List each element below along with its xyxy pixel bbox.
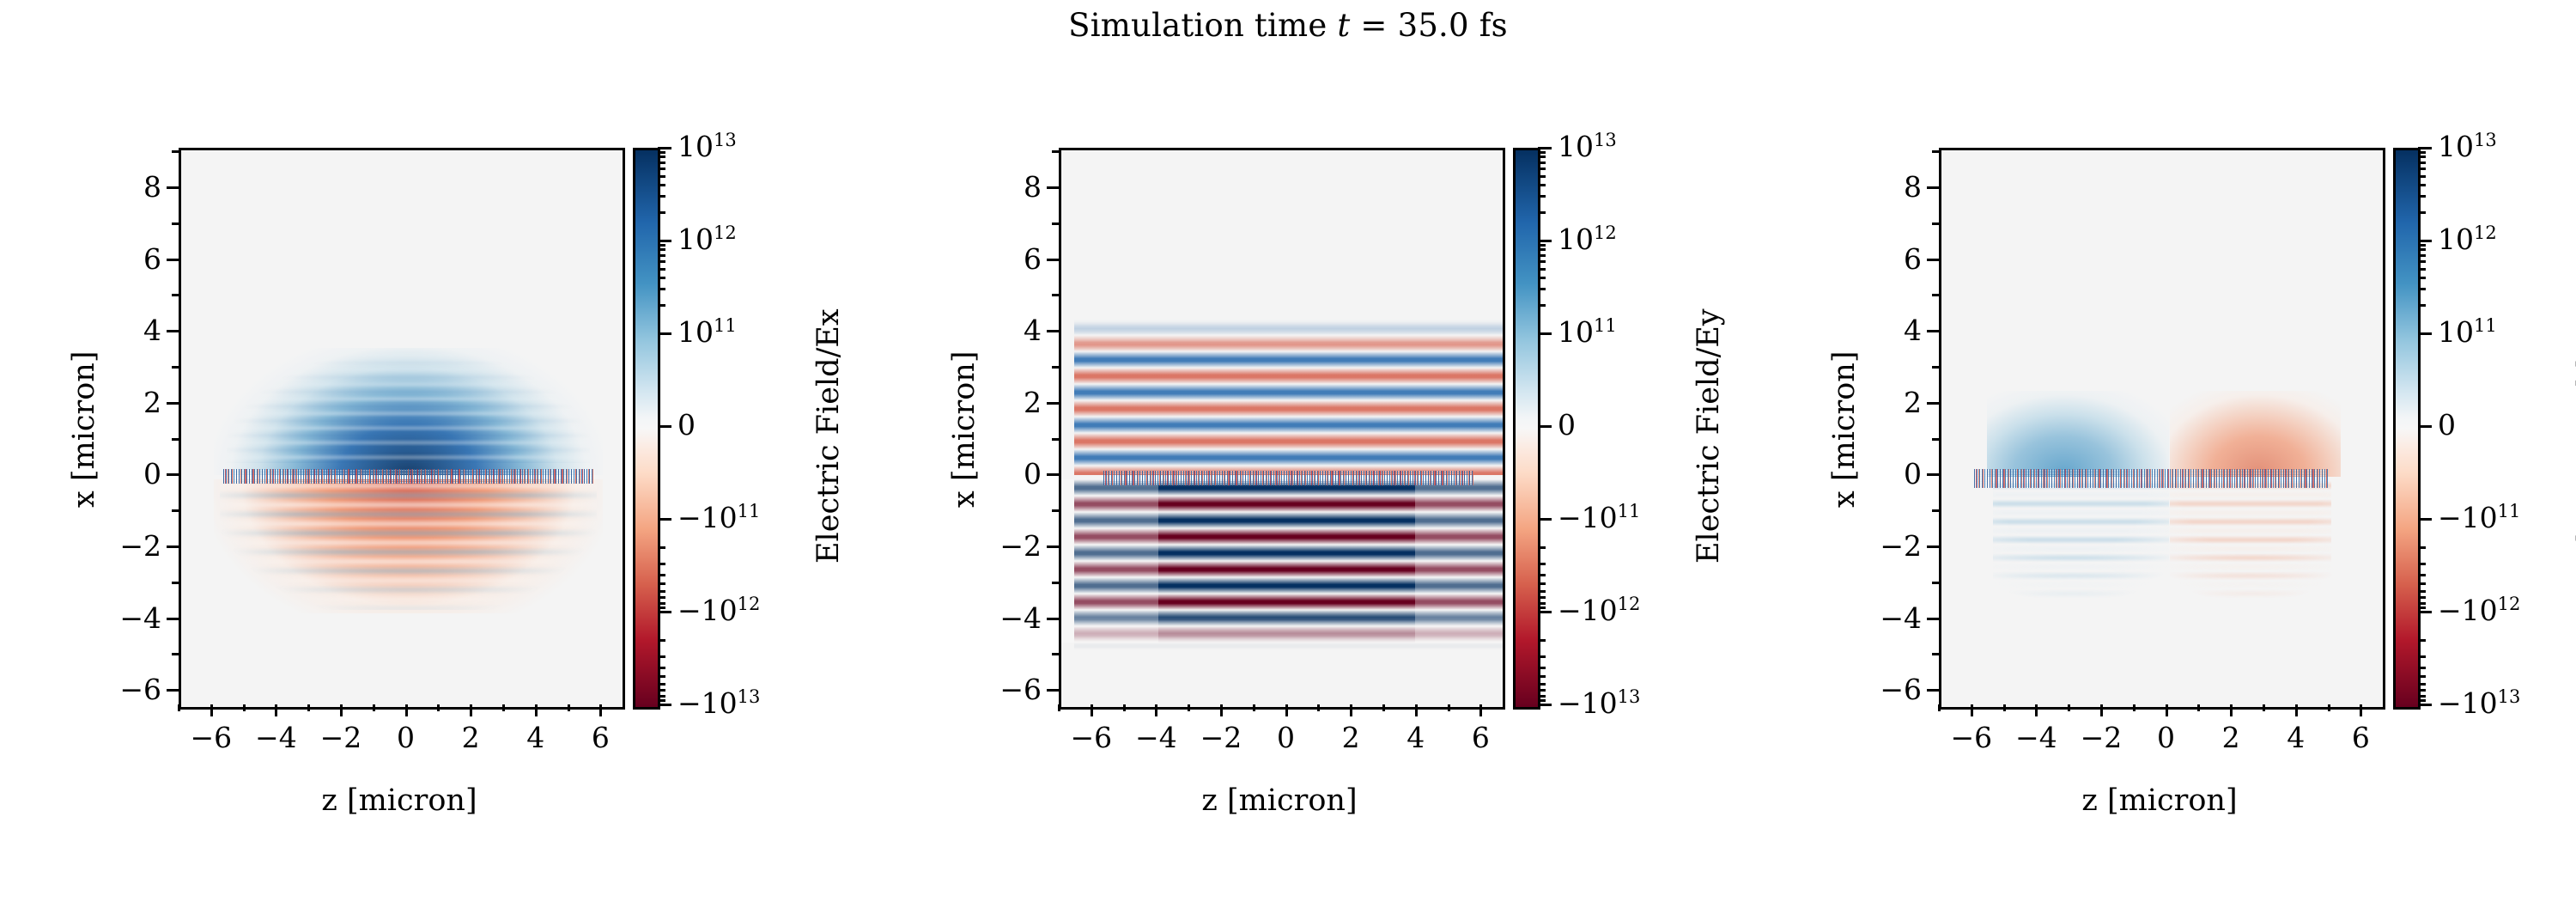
- y-tick-minor: [1932, 582, 1939, 584]
- colorbar-tick-minor: [1538, 582, 1546, 585]
- colorbar-tick-minor: [658, 248, 665, 251]
- colorbar-tick-minor: [658, 288, 665, 290]
- field-map-ez: [1941, 150, 2383, 707]
- y-tick-label: −4: [100, 604, 161, 632]
- y-tick-minor: [1052, 509, 1059, 512]
- colorbar-tick-minor: [658, 244, 665, 247]
- colorbar-tick-label: −1011: [677, 503, 760, 532]
- colorbar-tick-minor: [1538, 244, 1546, 247]
- colorbar-tick-label: 1012: [677, 225, 737, 253]
- colorbar-tick-minor: [1538, 639, 1546, 642]
- y-tick-label: −2: [1860, 532, 1922, 560]
- y-tick-major: [1927, 330, 1939, 332]
- field-map-ex: [181, 150, 623, 707]
- x-tick-label: −4: [2015, 723, 2057, 752]
- x-tick-major: [275, 704, 277, 716]
- y-tick-major: [167, 259, 179, 261]
- colorbar-tick-label: 1013: [1558, 132, 1617, 161]
- colorbar-tick-minor: [2418, 260, 2426, 263]
- colorbar-tick-minor: [658, 304, 665, 307]
- colorbar-tick-minor: [658, 574, 665, 576]
- colorbar-tick-minor: [658, 162, 665, 164]
- colorbar-tick-minor: [1538, 675, 1546, 678]
- y-tick-label: 2: [1860, 388, 1922, 417]
- x-tick-label: −2: [320, 723, 362, 752]
- y-tick-major: [1047, 259, 1059, 261]
- y-tick-major: [1047, 330, 1059, 332]
- x-tick-label: 2: [2222, 723, 2240, 752]
- x-tick-label: 6: [2352, 723, 2370, 752]
- plot-area-ex[interactable]: [179, 148, 625, 710]
- y-tick-minor: [1052, 653, 1059, 655]
- x-tick-major: [2360, 704, 2362, 716]
- colorbar-tick-minor: [1538, 162, 1546, 164]
- y-tick-major: [167, 330, 179, 332]
- colorbar-tick-minor: [1538, 546, 1546, 549]
- colorbar-tick-exponent: 12: [2474, 222, 2497, 243]
- colorbar-tick-minor: [2418, 195, 2426, 198]
- y-tick-major: [1927, 545, 1939, 548]
- plot-area-ey[interactable]: [1059, 148, 1505, 710]
- colorbar-tick-minor: [2418, 155, 2426, 158]
- colorbar-tick-minor: [658, 689, 665, 692]
- colorbar-tick-minor: [1538, 277, 1546, 279]
- y-tick-minor: [1052, 150, 1059, 153]
- colorbar-tick-minor: [1538, 695, 1546, 698]
- y-tick-minor: [1052, 222, 1059, 225]
- colorbar-tick-minor: [658, 596, 665, 599]
- colorbar-tick-exponent: 12: [2498, 594, 2521, 614]
- x-tick-major: [2295, 704, 2298, 716]
- x-tick-minor: [1317, 704, 1320, 711]
- plot-area-ez[interactable]: [1939, 148, 2385, 710]
- colorbar-tick-minor: [1538, 667, 1546, 669]
- colorbar-tick-minor: [658, 195, 665, 198]
- colorbar-tick-minor: [2418, 175, 2426, 178]
- colorbar-tick-minor: [1538, 254, 1546, 257]
- x-tick-label: 2: [1342, 723, 1360, 752]
- colorbar-tick-exponent: 11: [2498, 501, 2521, 521]
- colorbar-tick-exponent: 13: [2498, 686, 2521, 707]
- colorbar-tick-minor: [658, 155, 665, 158]
- colorbar-tick-major: [1538, 704, 1552, 706]
- colorbar-tick-major: [1538, 147, 1552, 149]
- colorbar-tick-minor: [658, 590, 665, 593]
- colorbar-tick-minor: [658, 695, 665, 698]
- x-tick-minor: [2003, 704, 2006, 711]
- x-tick-major: [2035, 704, 2038, 716]
- colorbar-tick-major: [1538, 518, 1552, 521]
- y-tick-label: 6: [1860, 245, 1922, 273]
- colorbar-tick-minor: [1538, 184, 1546, 186]
- colorbar-tick-minor: [658, 655, 665, 658]
- colorbar-tick-exponent: 11: [2474, 315, 2497, 336]
- x-tick-major: [1285, 704, 1288, 716]
- colorbar-tick-minor: [658, 546, 665, 549]
- colorbar-tick-minor: [1538, 151, 1546, 154]
- title-prefix: Simulation time: [1068, 7, 1337, 44]
- colorbar-tick-major: [2418, 518, 2432, 521]
- x-tick-major: [2100, 704, 2103, 716]
- colorbar-title-ey: Electric Field/Ey: [1692, 308, 1726, 564]
- x-tick-label: −6: [1950, 723, 1992, 752]
- colorbar-tick-exponent: 12: [738, 594, 761, 614]
- colorbar-tick-major: [658, 147, 671, 149]
- colorbar-tick-major: [658, 425, 671, 428]
- colorbar-tick-minor: [1538, 606, 1546, 609]
- y-tick-major: [1927, 689, 1939, 692]
- colorbar-tick-minor: [2418, 602, 2426, 605]
- y-axis-title: x [micron]: [67, 350, 101, 508]
- colorbar-tick-minor: [658, 184, 665, 186]
- y-tick-minor: [172, 509, 179, 512]
- y-tick-label: −6: [980, 675, 1042, 704]
- colorbar-tick-mantissa: 10: [677, 130, 714, 163]
- colorbar-tick-major: [658, 704, 671, 706]
- colorbar-tick-minor: [2418, 162, 2426, 164]
- y-tick-minor: [1052, 582, 1059, 584]
- x-tick-minor: [243, 704, 246, 711]
- colorbar-tick-minor: [1538, 590, 1546, 593]
- colorbar-tick-minor: [2418, 582, 2426, 585]
- colorbar-title-ex: Electric Field/Ex: [811, 308, 846, 564]
- y-tick-minor: [172, 582, 179, 584]
- colorbar-tick-minor: [2418, 248, 2426, 251]
- x-tick-minor: [1448, 704, 1450, 711]
- y-tick-major: [1927, 473, 1939, 476]
- colorbar-tick-mantissa: 10: [2438, 315, 2474, 349]
- colorbar-tick-major: [1538, 240, 1552, 242]
- field-map-ey: [1061, 150, 1503, 707]
- colorbar-tick-minor: [2418, 277, 2426, 279]
- y-tick-minor: [1932, 366, 1939, 369]
- y-tick-label: 4: [1860, 316, 1922, 344]
- colorbar-tick-minor: [658, 563, 665, 565]
- colorbar-tick-major: [2418, 147, 2432, 149]
- colorbar-tick-minor: [1538, 655, 1546, 658]
- colorbar-tick-minor: [1538, 699, 1546, 702]
- colorbar-tick-exponent: 13: [714, 130, 737, 150]
- colorbar-tick-label: −1012: [1558, 596, 1640, 625]
- colorbar-tick-label: 1011: [2438, 318, 2497, 346]
- colorbar-tick-label: −1012: [677, 596, 760, 625]
- y-tick-major: [167, 545, 179, 548]
- colorbar-tick-minor: [1538, 155, 1546, 158]
- colorbar-title-ez: Electric Field/Ez: [2572, 310, 2576, 564]
- x-tick-major: [1155, 704, 1157, 716]
- y-tick-major: [167, 402, 179, 405]
- x-axis-title: z [micron]: [2081, 783, 2237, 818]
- colorbar-tick-major: [658, 240, 671, 242]
- x-tick-major: [2230, 704, 2233, 716]
- colorbar-tick-exponent: 12: [1618, 594, 1641, 614]
- colorbar-tick-minor: [2418, 639, 2426, 642]
- x-tick-major: [470, 704, 472, 716]
- colorbar-tick-minor: [1538, 168, 1546, 170]
- y-tick-label: −4: [1860, 604, 1922, 632]
- y-tick-major: [1047, 402, 1059, 405]
- colorbar-tick-mantissa: 0: [2438, 408, 2456, 442]
- x-tick-label: −4: [1135, 723, 1177, 752]
- y-tick-major: [1047, 473, 1059, 476]
- x-tick-minor: [1382, 704, 1385, 711]
- y-tick-label: 2: [980, 388, 1042, 417]
- colorbar-tick-minor: [1538, 260, 1546, 263]
- title-variable: t: [1337, 7, 1350, 44]
- colorbar-tick-minor: [658, 639, 665, 642]
- colorbar-tick-major: [1538, 332, 1552, 335]
- colorbar-tick-major: [658, 611, 671, 613]
- y-tick-minor: [172, 222, 179, 225]
- x-tick-major: [340, 704, 343, 716]
- colorbar-tick-minor: [2418, 675, 2426, 678]
- y-tick-minor: [172, 150, 179, 153]
- x-tick-minor: [1188, 704, 1190, 711]
- colorbar-tick-major: [1538, 425, 1552, 428]
- y-tick-label: −6: [100, 675, 161, 704]
- colorbar-tick-minor: [2418, 695, 2426, 698]
- x-tick-minor: [307, 704, 310, 711]
- y-tick-major: [1047, 186, 1059, 189]
- colorbar-tick-minor: [1538, 574, 1546, 576]
- page-title: Simulation time t = 35.0 fs: [0, 0, 2576, 44]
- colorbar-tick-mantissa: −10: [2438, 501, 2498, 534]
- colorbar-tick-minor: [658, 699, 665, 702]
- colorbar-tick-minor: [1538, 304, 1546, 307]
- x-tick-major: [1415, 704, 1418, 716]
- x-tick-label: −2: [1200, 723, 1242, 752]
- colorbar-tick-minor: [2418, 304, 2426, 307]
- colorbar-tick-label: −1011: [2438, 503, 2520, 532]
- y-tick-minor: [1932, 509, 1939, 512]
- x-tick-label: 0: [2157, 723, 2175, 752]
- colorbar-tick-label: −1013: [677, 689, 760, 717]
- colorbar-tick-minor: [658, 277, 665, 279]
- colorbar-tick-label: 1012: [1558, 225, 1617, 253]
- colorbar-tick-minor: [1538, 248, 1546, 251]
- x-tick-label: −2: [2081, 723, 2123, 752]
- x-tick-minor: [2133, 704, 2136, 711]
- colorbar-tick-minor: [2418, 606, 2426, 609]
- x-axis-title: z [micron]: [1201, 783, 1357, 818]
- colorbar-tick-minor: [1538, 596, 1546, 599]
- colorbar-tick-minor: [658, 606, 665, 609]
- x-tick-label: −6: [1070, 723, 1112, 752]
- y-axis-title: x [micron]: [1827, 350, 1862, 508]
- x-tick-minor: [178, 704, 180, 711]
- x-tick-major: [405, 704, 408, 716]
- colorbar-tick-minor: [658, 168, 665, 170]
- colorbar-tick-exponent: 13: [1618, 686, 1641, 707]
- x-tick-label: 0: [397, 723, 415, 752]
- y-tick-label: −2: [100, 532, 161, 560]
- colorbar-tick-minor: [2418, 546, 2426, 549]
- colorbar-tick-major: [658, 332, 671, 335]
- y-tick-minor: [1052, 438, 1059, 441]
- y-tick-major: [1927, 186, 1939, 189]
- colorbar-tick-mantissa: −10: [1558, 686, 1618, 720]
- colorbar-tick-label: −1011: [1558, 503, 1640, 532]
- colorbar-tick-minor: [2418, 574, 2426, 576]
- y-tick-minor: [1052, 294, 1059, 296]
- colorbar-tick-exponent: 11: [1594, 315, 1617, 336]
- colorbar-tick-label: 1011: [677, 318, 737, 346]
- y-tick-major: [1047, 618, 1059, 620]
- x-tick-major: [1220, 704, 1223, 716]
- x-tick-major: [599, 704, 602, 716]
- colorbar-tick-minor: [2418, 667, 2426, 669]
- y-tick-major: [1927, 402, 1939, 405]
- y-tick-label: −2: [980, 532, 1042, 560]
- y-axis-title: x [micron]: [947, 350, 981, 508]
- colorbar-tick-minor: [658, 683, 665, 686]
- colorbar-tick-major: [2418, 425, 2432, 428]
- x-tick-minor: [502, 704, 505, 711]
- y-tick-minor: [172, 366, 179, 369]
- y-tick-major: [167, 689, 179, 692]
- colorbar-tick-minor: [1538, 288, 1546, 290]
- x-axis-title: z [micron]: [321, 783, 477, 818]
- colorbar-tick-minor: [658, 667, 665, 669]
- x-tick-minor: [568, 704, 570, 711]
- colorbar-tick-minor: [1538, 602, 1546, 605]
- x-tick-minor: [373, 704, 375, 711]
- colorbar-tick-mantissa: −10: [1558, 501, 1618, 534]
- colorbar-tick-minor: [658, 175, 665, 178]
- colorbar-tick-label: −1013: [1558, 689, 1640, 717]
- colorbar-tick-major: [2418, 240, 2432, 242]
- colorbar-tick-minor: [2418, 683, 2426, 686]
- y-tick-label: −4: [980, 604, 1042, 632]
- colorbar-tick-minor: [658, 602, 665, 605]
- x-tick-major: [1350, 704, 1352, 716]
- y-tick-major: [1927, 259, 1939, 261]
- colorbar-tick-mantissa: 10: [677, 315, 714, 349]
- x-tick-major: [1971, 704, 1973, 716]
- colorbar-tick-minor: [658, 675, 665, 678]
- x-tick-label: 4: [2287, 723, 2305, 752]
- colorbar-tick-major: [2418, 332, 2432, 335]
- x-tick-minor: [2197, 704, 2200, 711]
- x-tick-label: 0: [1277, 723, 1295, 752]
- y-tick-label: 8: [100, 173, 161, 201]
- colorbar-tick-label: 0: [2438, 411, 2456, 439]
- colorbar-tick-minor: [1538, 195, 1546, 198]
- y-tick-minor: [172, 438, 179, 441]
- colorbar-ey[interactable]: [1513, 148, 1540, 710]
- y-tick-label: 0: [1860, 460, 1922, 488]
- colorbar-tick-exponent: 11: [714, 315, 737, 336]
- colorbar-tick-minor: [658, 211, 665, 214]
- x-tick-major: [210, 704, 213, 716]
- colorbar-gradient: [635, 150, 658, 707]
- y-tick-major: [1047, 545, 1059, 548]
- x-tick-minor: [1938, 704, 1941, 711]
- title-value: = 35.0 fs: [1350, 7, 1507, 44]
- x-tick-minor: [1253, 704, 1255, 711]
- colorbar-tick-minor: [2418, 655, 2426, 658]
- colorbar-tick-minor: [2418, 590, 2426, 593]
- y-tick-label: −6: [1860, 675, 1922, 704]
- y-tick-minor: [172, 653, 179, 655]
- colorbar-tick-label: −1012: [2438, 596, 2520, 625]
- x-tick-major: [1091, 704, 1093, 716]
- colorbar-tick-label: 0: [1558, 411, 1576, 439]
- colorbar-tick-minor: [2418, 596, 2426, 599]
- y-tick-major: [167, 186, 179, 189]
- colorbar-tick-exponent: 13: [738, 686, 761, 707]
- colorbar-tick-label: 1011: [1558, 318, 1617, 346]
- y-tick-minor: [1932, 222, 1939, 225]
- colorbar-tick-minor: [2418, 689, 2426, 692]
- x-tick-major: [2166, 704, 2168, 716]
- colorbar-tick-major: [2418, 704, 2432, 706]
- colorbar-tick-minor: [2418, 268, 2426, 271]
- y-tick-label: 4: [980, 316, 1042, 344]
- colorbar-gradient: [1516, 150, 1538, 707]
- colorbar-ez[interactable]: [2393, 148, 2421, 710]
- y-tick-label: 0: [980, 460, 1042, 488]
- colorbar-tick-exponent: 12: [714, 222, 737, 243]
- x-tick-minor: [1123, 704, 1126, 711]
- colorbar-tick-major: [2418, 611, 2432, 613]
- y-tick-label: 6: [100, 245, 161, 273]
- y-tick-label: 8: [980, 173, 1042, 201]
- y-tick-minor: [1932, 653, 1939, 655]
- colorbar-tick-mantissa: 10: [2438, 130, 2474, 163]
- colorbar-tick-label: 0: [677, 411, 696, 439]
- x-tick-minor: [437, 704, 440, 711]
- colorbar-tick-mantissa: 10: [1558, 315, 1594, 349]
- colorbar-tick-exponent: 12: [1594, 222, 1617, 243]
- colorbar-tick-minor: [658, 151, 665, 154]
- colorbar-tick-minor: [658, 254, 665, 257]
- colorbar-tick-minor: [1538, 211, 1546, 214]
- colorbar-tick-major: [1538, 611, 1552, 613]
- y-tick-major: [167, 618, 179, 620]
- colorbar-tick-minor: [2418, 288, 2426, 290]
- y-tick-minor: [1932, 150, 1939, 153]
- colorbar-gradient: [2396, 150, 2418, 707]
- y-tick-minor: [1932, 438, 1939, 441]
- colorbar-tick-mantissa: −10: [2438, 594, 2498, 627]
- colorbar-tick-minor: [2418, 168, 2426, 170]
- x-tick-major: [535, 704, 538, 716]
- colorbar-tick-label: 1013: [677, 132, 737, 161]
- y-tick-label: 0: [100, 460, 161, 488]
- colorbar-tick-minor: [1538, 563, 1546, 565]
- colorbar-ex[interactable]: [633, 148, 660, 710]
- colorbar-tick-minor: [658, 268, 665, 271]
- x-tick-label: −4: [255, 723, 297, 752]
- colorbar-tick-exponent: 11: [738, 501, 761, 521]
- y-tick-major: [1927, 618, 1939, 620]
- x-tick-label: −6: [190, 723, 232, 752]
- x-tick-label: 6: [1472, 723, 1490, 752]
- colorbar-tick-mantissa: −10: [1558, 594, 1618, 627]
- x-tick-label: 2: [462, 723, 480, 752]
- x-tick-minor: [1058, 704, 1060, 711]
- x-tick-minor: [2328, 704, 2330, 711]
- y-tick-label: 8: [1860, 173, 1922, 201]
- y-tick-minor: [1932, 294, 1939, 296]
- colorbar-tick-minor: [2418, 151, 2426, 154]
- colorbar-tick-label: 1012: [2438, 225, 2497, 253]
- x-tick-minor: [2068, 704, 2070, 711]
- colorbar-tick-minor: [1538, 268, 1546, 271]
- colorbar-tick-minor: [2418, 254, 2426, 257]
- y-tick-label: 4: [100, 316, 161, 344]
